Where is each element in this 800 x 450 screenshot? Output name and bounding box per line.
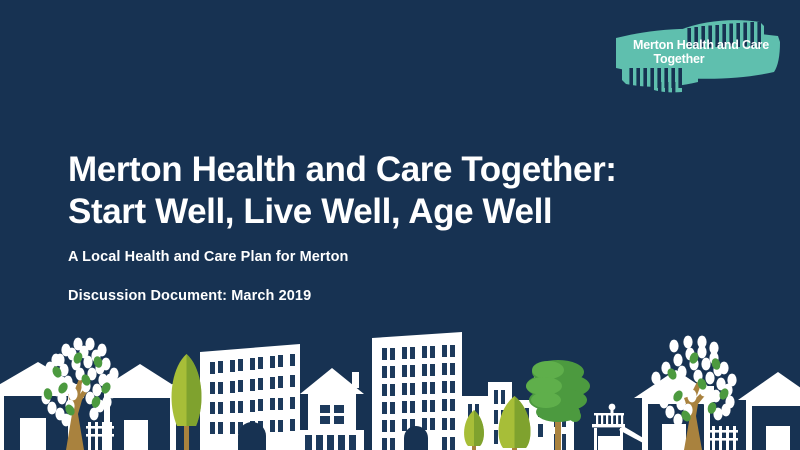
page-title-line-1: Merton Health and Care Together: — [68, 150, 617, 189]
subtitle-document-date: Discussion Document: March 2019 — [68, 288, 311, 304]
picket-fence-right — [710, 426, 738, 450]
house-right-b — [738, 372, 800, 450]
town-skyline-illustration — [0, 310, 800, 450]
page-title: Merton Health and Care Together: Start W… — [68, 149, 748, 233]
slide-root: Merton Health and Care Together Merton H… — [0, 0, 800, 450]
logo[interactable]: Merton Health and Care Together — [608, 8, 794, 96]
subtitle-plan: A Local Health and Care Plan for Merton — [68, 249, 349, 265]
page-title-line-2: Start Well, Live Well, Age Well — [68, 191, 748, 233]
logo-ribbon-shape — [608, 8, 794, 96]
small-house-gabled — [300, 368, 364, 450]
picket-fence-left — [86, 422, 114, 450]
poplar-tree — [172, 354, 202, 450]
apartment-block-left — [200, 344, 300, 450]
tower-block-a — [372, 332, 462, 450]
